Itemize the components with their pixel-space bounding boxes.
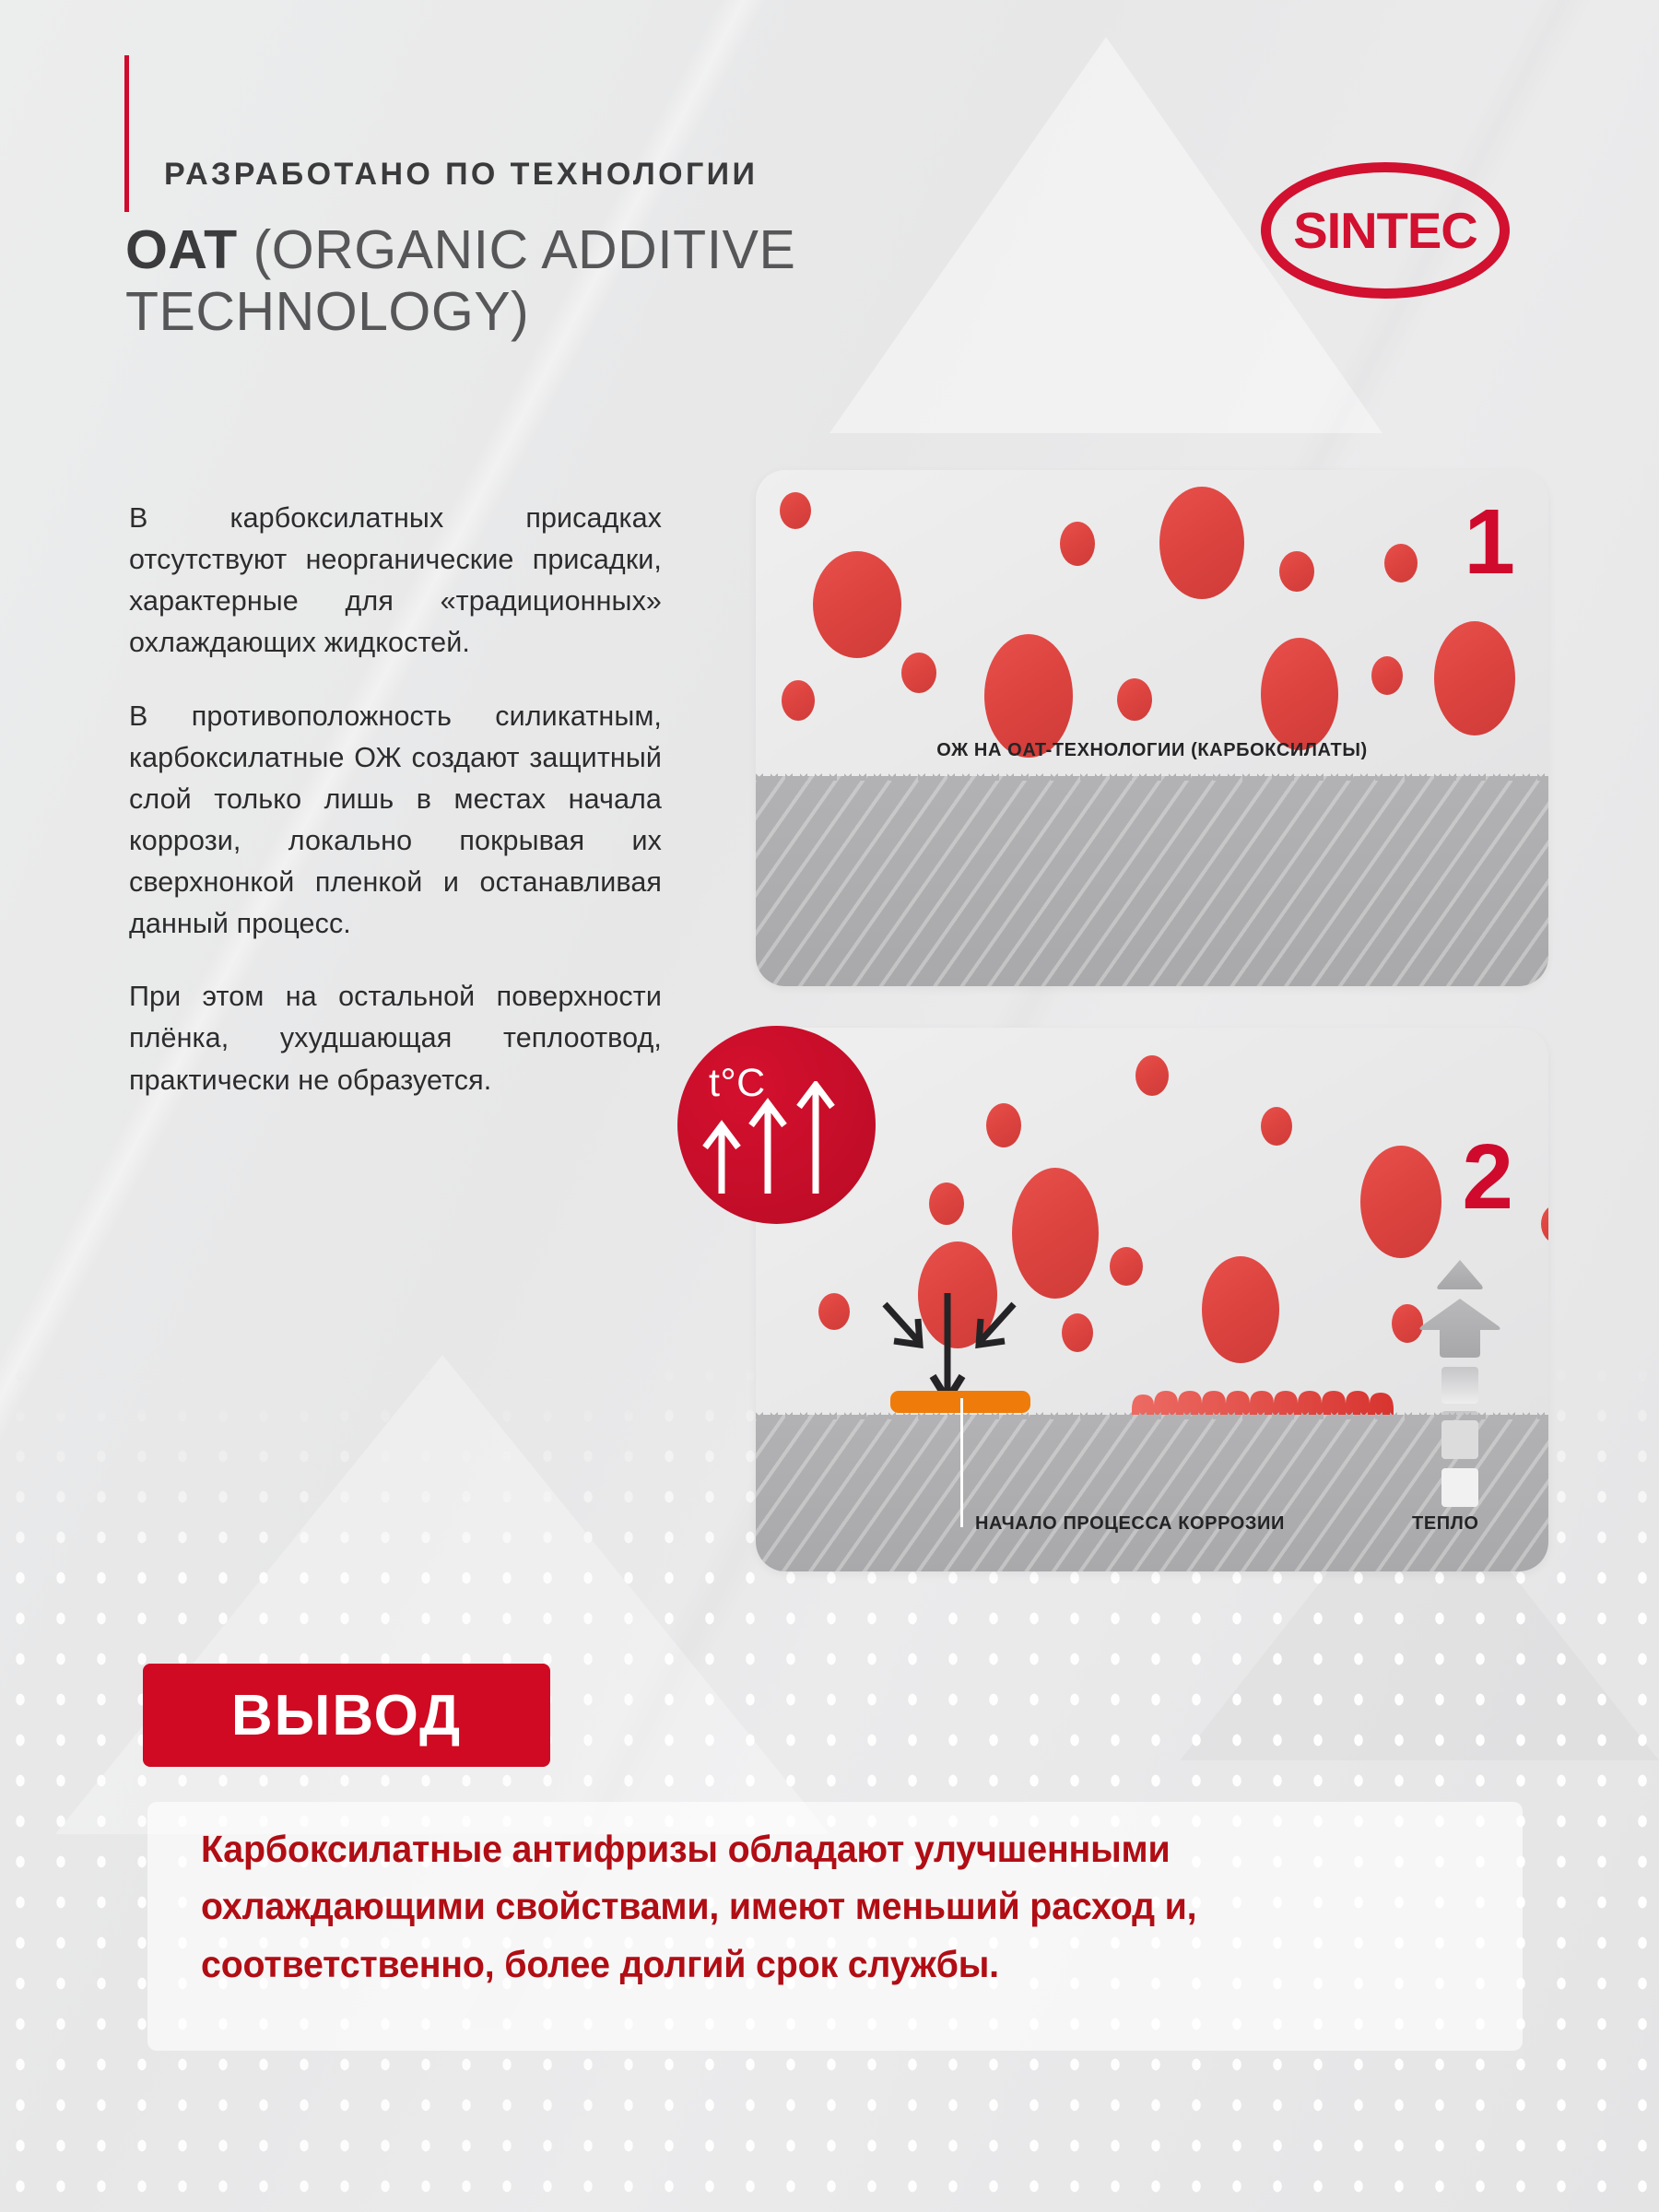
conclusion-badge-label: ВЫВОД <box>231 1683 462 1748</box>
additive-bubble <box>984 634 1073 758</box>
additive-bubble <box>1371 656 1403 695</box>
additive-bubble <box>1261 638 1338 750</box>
panel-1-caption: ОЖ НА OAT-ТЕХНОЛОГИИ (КАРБОКСИЛАТЫ) <box>756 740 1548 761</box>
panel-number: 1 <box>1464 496 1515 588</box>
body-paragraph-3: При этом на остальной поверхности плёнка… <box>129 976 662 1100</box>
additive-bubble <box>901 653 936 693</box>
additive-bubble <box>1117 678 1152 721</box>
panel-number: 2 <box>1462 1131 1513 1223</box>
additive-bubble <box>1159 487 1244 599</box>
page-title-acronym: OAT <box>125 219 238 280</box>
panel-2-caption-corrosion: НАЧАЛО ПРОЦЕССА КОРРОЗИИ <box>975 1513 1285 1535</box>
additive-bubble <box>1384 544 1418 582</box>
heat-arrow-lower-segments-icon <box>1418 1415 1502 1525</box>
additive-bubble <box>1110 1247 1143 1286</box>
dot-pattern-dark <box>0 1355 645 2212</box>
metal-surface <box>756 776 1548 986</box>
sintec-logo: SINTEC <box>1261 162 1510 299</box>
additive-bubble <box>1541 1205 1548 1243</box>
additive-bubble <box>1279 551 1314 592</box>
additive-bubble <box>1060 522 1095 566</box>
conclusion-text: Карбоксилатные антифризы обладают улучше… <box>201 1820 1457 1993</box>
illustration-panel-2: 2 <box>756 1028 1548 1571</box>
additive-bubble <box>1135 1055 1169 1096</box>
body-copy: В карбоксилатных присадках отсутствуют н… <box>129 498 662 1101</box>
body-paragraph-1: В карбоксилатных присадках отсутствуют н… <box>129 498 662 665</box>
additive-bubble <box>1261 1107 1292 1146</box>
conclusion-badge: ВЫВОД <box>143 1664 550 1767</box>
panel-2-caption-heat: ТЕПЛО <box>1412 1513 1479 1535</box>
additive-bubble <box>1062 1313 1093 1352</box>
additive-bubble <box>929 1182 964 1225</box>
additive-bubble <box>1434 621 1515 735</box>
temperature-badge: t°C <box>677 1026 876 1224</box>
rising-arrows-icon <box>698 1081 856 1201</box>
corrosion-leader-line <box>960 1398 963 1527</box>
page-header: РАЗРАБОТАНО ПО ТЕХНОЛОГИИ OAT (ORGANIC A… <box>0 0 1659 433</box>
infographic-page: РАЗРАБОТАНО ПО ТЕХНОЛОГИИ OAT (ORGANIC A… <box>0 0 1659 2212</box>
header-accent-rule <box>124 55 129 212</box>
additive-bubble <box>780 492 811 529</box>
body-paragraph-2: В противоположность силикатным, карбокси… <box>129 696 662 946</box>
additive-bubble <box>782 680 815 721</box>
additive-bubble <box>1012 1168 1099 1299</box>
logo-wordmark: SINTEC <box>1258 201 1512 260</box>
additive-bubble <box>1202 1256 1279 1363</box>
additive-bubble <box>813 551 901 658</box>
metal-surface-teeth <box>756 771 1548 781</box>
header-eyebrow: РАЗРАБОТАНО ПО ТЕХНОЛОГИИ <box>164 157 758 193</box>
page-title: OAT (ORGANIC ADDITIVE TECHNOLOGY) <box>125 219 1167 344</box>
additive-bubble <box>1360 1146 1441 1258</box>
illustration-panel-1: 1 ОЖ НА OAT-ТЕХНОЛОГИИ (КАРБОКСИЛАТЫ) <box>756 470 1548 986</box>
additive-bubble <box>986 1103 1021 1147</box>
additive-bubble <box>818 1293 850 1330</box>
